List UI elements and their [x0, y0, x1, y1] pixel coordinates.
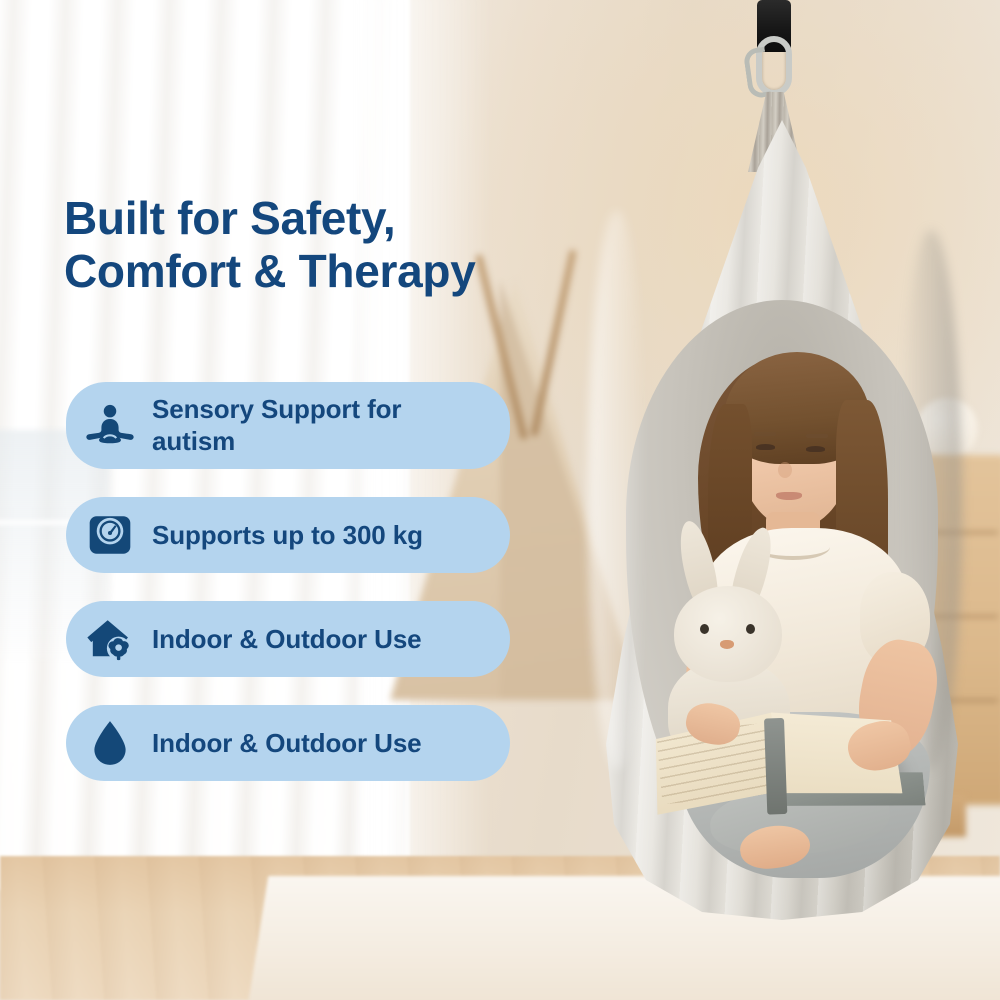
- nose: [778, 462, 792, 478]
- bunny-eye-right: [746, 624, 755, 634]
- page-title: Built for Safety,Comfort & Therapy: [64, 192, 584, 299]
- book-spine: [764, 718, 787, 815]
- feature-label: Sensory Support for autism: [152, 394, 476, 457]
- bunny-head: [674, 586, 782, 682]
- mouth: [776, 492, 802, 500]
- feature-list: Sensory Support for autism Supports up t…: [66, 382, 510, 781]
- feature-label: Supports up to 300 kg: [152, 520, 423, 552]
- feature-label: Indoor & Outdoor Use: [152, 624, 422, 656]
- feature-pill-water-resistant[interactable]: Indoor & Outdoor Use: [66, 705, 510, 781]
- sensory-swing: [560, 0, 1000, 960]
- eyebrow-left: [754, 432, 776, 436]
- eye-right: [806, 446, 825, 452]
- weight-scale-icon: [84, 509, 136, 561]
- headline-line-2: Comfort & Therapy: [64, 245, 475, 297]
- water-droplet-icon: [84, 717, 136, 769]
- feature-label: Indoor & Outdoor Use: [152, 728, 422, 760]
- bunny-nose: [720, 640, 734, 649]
- feature-pill-weight-capacity[interactable]: Supports up to 300 kg: [66, 497, 510, 573]
- meditation-icon: [84, 400, 136, 452]
- house-outdoor-icon: [84, 613, 136, 665]
- eye-left: [756, 444, 775, 450]
- feature-pill-sensory-support[interactable]: Sensory Support for autism: [66, 382, 510, 469]
- product-infographic: Built for Safety,Comfort & Therapy Senso…: [0, 0, 1000, 1000]
- headline-line-1: Built for Safety,: [64, 192, 395, 244]
- feature-pill-indoor-outdoor[interactable]: Indoor & Outdoor Use: [66, 601, 510, 677]
- eyebrow-right: [806, 434, 828, 438]
- bunny-eye-left: [700, 624, 709, 634]
